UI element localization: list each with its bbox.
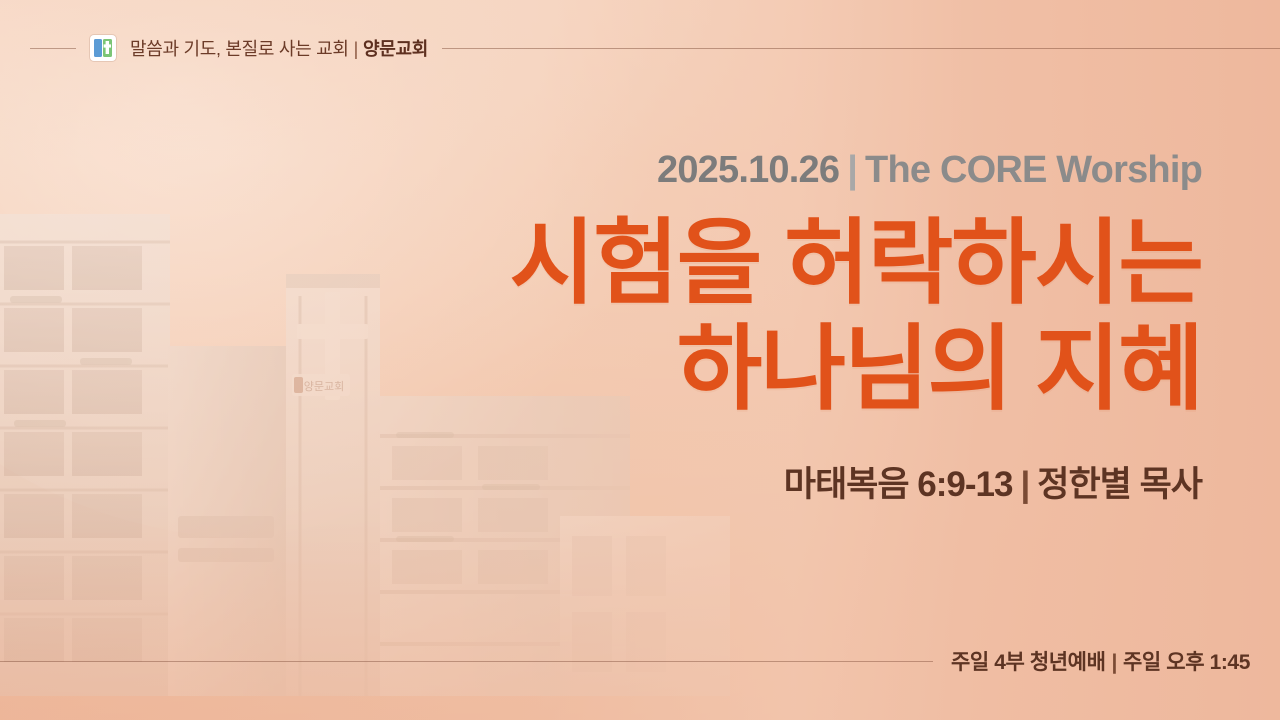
service-meta-line: 2025.10.26|The CORE Worship: [72, 150, 1202, 192]
subtitle-separator: |: [1012, 465, 1037, 504]
footer-service-label: 주일 4부 청년예배: [951, 651, 1106, 674]
slide-background: 양문교회: [0, 0, 1280, 720]
header-separator: |: [349, 39, 363, 59]
service-meta-separator: |: [839, 149, 865, 191]
footer-text: 주일 4부 청년예배|주일 오후 1:45: [951, 646, 1250, 676]
footer-service-time: 주일 오후 1:45: [1123, 651, 1250, 674]
header-slogan: 말씀과 기도, 본질로 사는 교회: [130, 39, 349, 59]
footer-separator: |: [1106, 651, 1123, 674]
header-text: 말씀과 기도, 본질로 사는 교회|양문교회: [130, 35, 428, 61]
service-date: 2025.10.26: [657, 149, 839, 191]
footer-rule: [0, 661, 933, 662]
church-cross-logo-icon: [90, 35, 116, 61]
footer-bar: 주일 4부 청년예배|주일 오후 1:45: [0, 646, 1280, 676]
header-right-rule: [442, 48, 1280, 49]
sermon-title-line2: 하나님의 지혜: [72, 316, 1202, 422]
header-bar: 말씀과 기도, 본질로 사는 교회|양문교회: [0, 0, 1280, 96]
sermon-subtitle: 마태복음 6:9-13|정한별 목사: [72, 456, 1202, 507]
header-church-name: 양문교회: [363, 39, 428, 59]
speaker-name: 정한별 목사: [1037, 465, 1202, 504]
service-name: The CORE Worship: [865, 149, 1202, 191]
sermon-content: 2025.10.26|The CORE Worship 시험을 허락하시는 하나…: [72, 150, 1202, 507]
scripture-reference: 마태복음 6:9-13: [784, 465, 1013, 504]
sermon-title-line1: 시험을 허락하시는: [72, 210, 1202, 316]
header-left-rule: [30, 48, 76, 49]
